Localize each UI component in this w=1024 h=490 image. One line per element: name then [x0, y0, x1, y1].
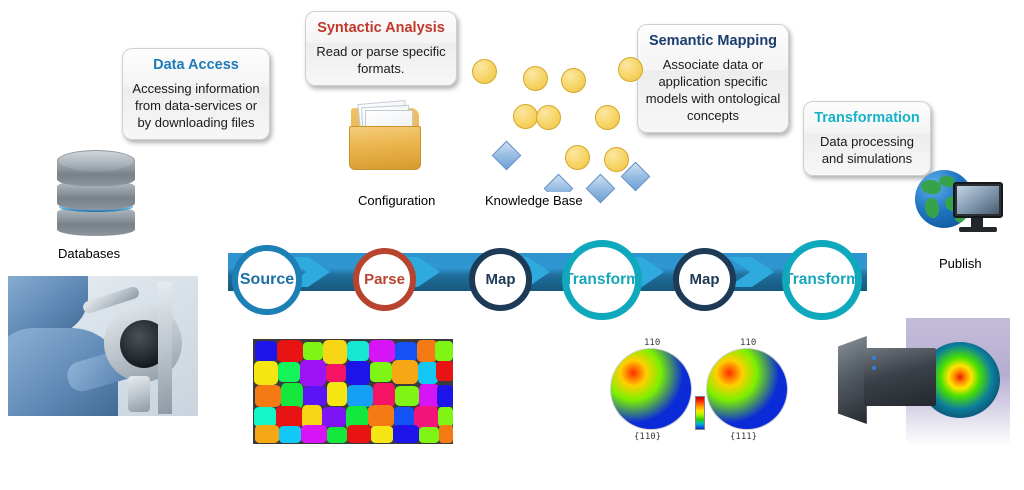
icon-label-knowledge-base: Knowledge Base	[482, 192, 586, 209]
callout-title: Semantic Mapping	[638, 25, 788, 54]
callout-title: Transformation	[804, 102, 930, 131]
pipeline-node-label: Parse	[364, 271, 405, 288]
pole-figure-right	[706, 348, 788, 430]
pole-figure-left	[610, 348, 692, 430]
callout-data-access: Data Access Accessing information from d…	[122, 48, 270, 140]
pole-figure-label-bottom-left: {110}	[634, 432, 661, 442]
pipeline-node-map-2[interactable]: Map	[673, 248, 736, 311]
pipeline-node-label: Map	[486, 271, 516, 288]
pipeline-node-source[interactable]: Source	[232, 245, 302, 315]
callout-title: Data Access	[123, 49, 269, 78]
image-simulation	[838, 318, 1010, 446]
icon-label-databases: Databases	[55, 245, 123, 262]
pipeline-node-label: Source	[240, 271, 294, 289]
pole-figure-label-bottom-right: {111}	[730, 432, 757, 442]
callout-body: Data processing and simulations	[804, 131, 930, 175]
pipeline-band	[228, 253, 867, 291]
pipeline-node-transform-2[interactable]: Transform	[782, 240, 862, 320]
pipeline-node-label: Transform	[784, 271, 860, 289]
pipeline-node-label: Transform	[564, 271, 640, 289]
image-lab-photo	[8, 276, 198, 416]
image-grain-orientation-map	[253, 339, 453, 444]
pipeline-node-label: Map	[690, 271, 720, 288]
database-cylinder-icon	[57, 150, 135, 242]
colorbar	[695, 396, 705, 430]
folder-documents-icon	[345, 100, 427, 178]
callout-title: Syntactic Analysis	[306, 12, 456, 41]
pole-figure-label-top-left: 110	[644, 338, 660, 348]
callout-body: Associate data or application specific m…	[638, 54, 788, 133]
pipeline-node-transform-1[interactable]: Transform	[562, 240, 642, 320]
icon-label-publish: Publish	[936, 255, 985, 272]
callout-semantic-mapping: Semantic Mapping Associate data or appli…	[637, 24, 789, 133]
callout-transformation: Transformation Data processing and simul…	[803, 101, 931, 176]
icon-label-configuration: Configuration	[355, 192, 438, 209]
diagram-canvas: Data Access Accessing information from d…	[0, 0, 1024, 490]
callout-body: Accessing information from data-services…	[123, 78, 269, 139]
pipeline-node-parse[interactable]: Parse	[353, 248, 416, 311]
callout-body: Read or parse specific formats.	[306, 41, 456, 85]
image-pole-figures: 110 110 {110} {111}	[608, 338, 792, 446]
pipeline-node-map-1[interactable]: Map	[469, 248, 532, 311]
callout-syntactic-analysis: Syntactic Analysis Read or parse specifi…	[305, 11, 457, 86]
globe-monitor-icon	[915, 168, 1005, 248]
pole-figure-label-top-right: 110	[740, 338, 756, 348]
